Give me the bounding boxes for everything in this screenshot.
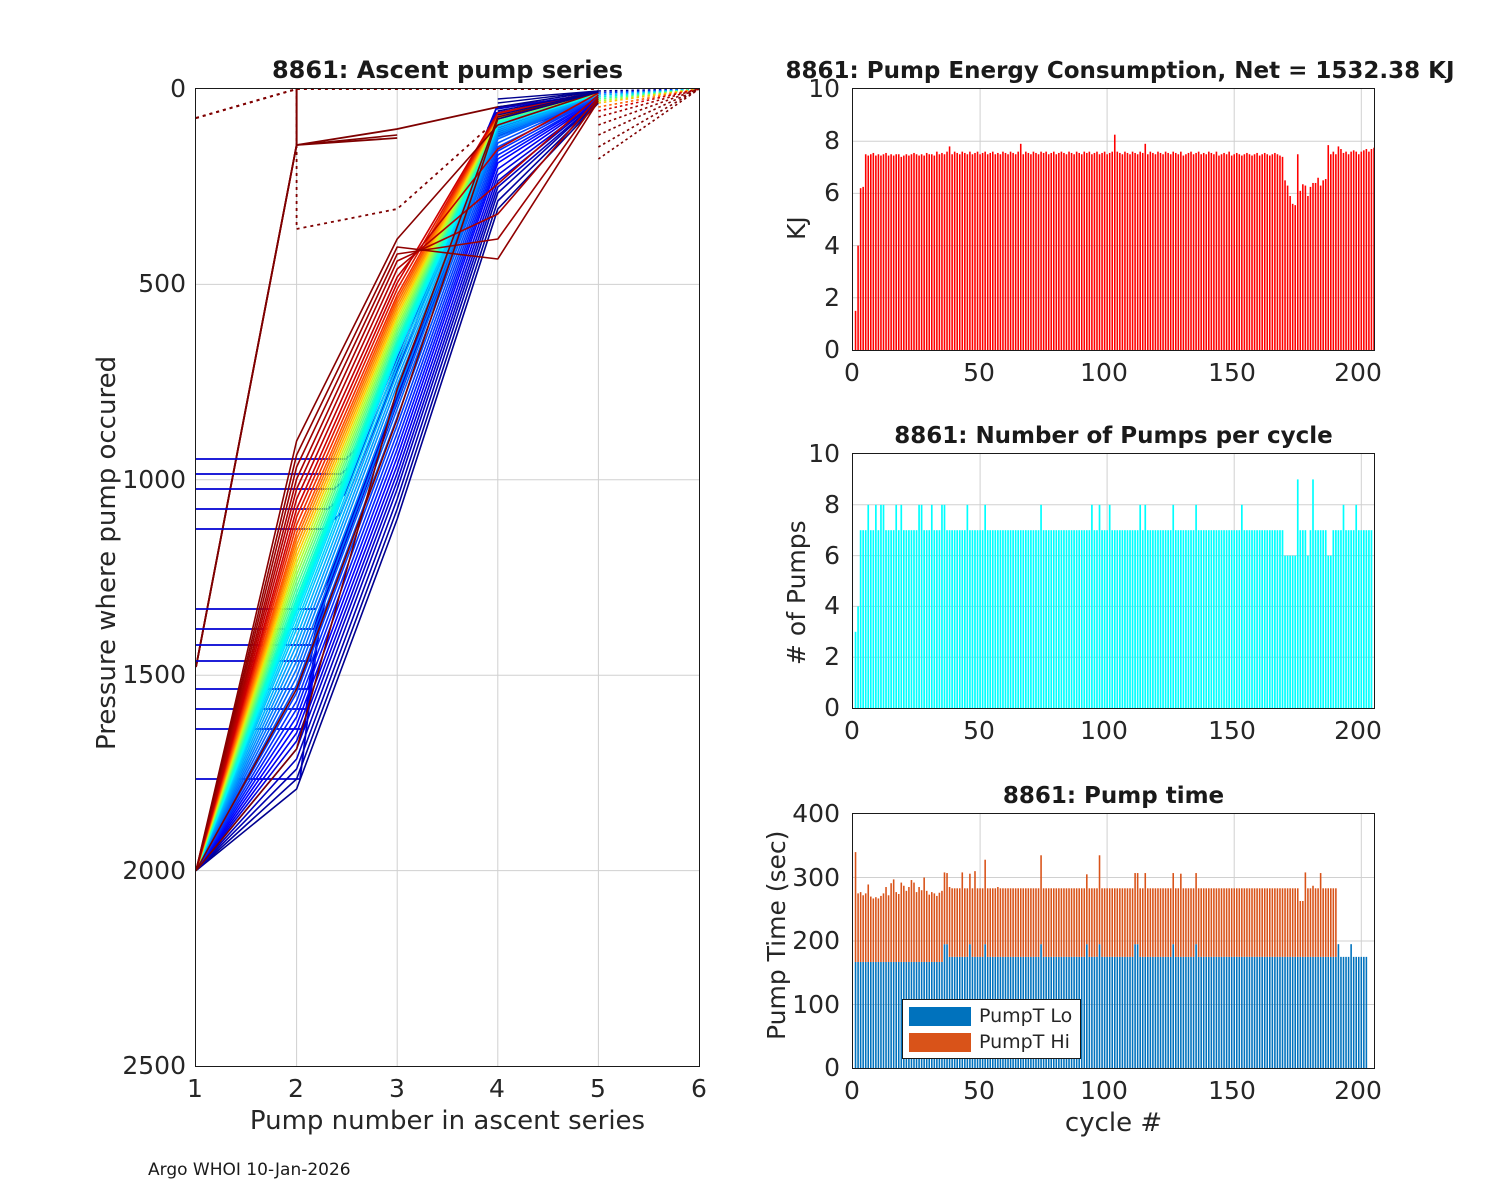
bar — [1015, 154, 1017, 350]
bar — [1175, 530, 1177, 708]
bar — [1030, 154, 1032, 350]
bar — [1239, 888, 1241, 957]
bar — [1028, 888, 1030, 957]
bar — [1180, 874, 1182, 957]
bar — [1305, 872, 1307, 956]
bar — [1355, 505, 1357, 708]
bar — [1101, 888, 1103, 957]
bar — [883, 962, 885, 1068]
bar — [967, 505, 969, 708]
bar — [1081, 888, 1083, 957]
bar — [1205, 957, 1207, 1068]
bar — [1218, 156, 1220, 350]
bar — [1236, 888, 1238, 957]
bar — [862, 962, 864, 1068]
bar — [1175, 153, 1177, 350]
bar — [1297, 888, 1299, 957]
bar — [1261, 957, 1263, 1068]
bar — [946, 530, 948, 708]
bar — [923, 878, 925, 962]
bar — [1233, 957, 1235, 1068]
bar — [1335, 154, 1337, 350]
bar — [1358, 957, 1360, 1068]
bar — [1124, 888, 1126, 957]
bar — [1055, 530, 1057, 708]
bar — [1188, 530, 1190, 708]
bar — [855, 311, 857, 350]
bar — [883, 154, 885, 350]
bar — [1050, 153, 1052, 350]
bar — [1322, 530, 1324, 708]
bar — [1259, 156, 1261, 350]
bar — [1269, 156, 1271, 350]
bar — [1083, 152, 1085, 350]
bar — [1050, 530, 1052, 708]
bar — [1340, 149, 1342, 350]
bar — [1294, 556, 1296, 708]
bar — [1167, 530, 1169, 708]
bar — [989, 888, 991, 957]
bar — [1091, 888, 1093, 957]
bar — [1236, 957, 1238, 1068]
bar — [1254, 957, 1256, 1068]
bar — [1223, 888, 1225, 957]
bar — [964, 530, 966, 708]
bar — [857, 893, 859, 962]
bar — [1144, 505, 1146, 708]
bar — [1147, 888, 1149, 957]
bar — [1089, 530, 1091, 708]
bar — [865, 154, 867, 350]
bar — [1287, 556, 1289, 708]
npumps-ytick-0: 0 — [788, 693, 840, 722]
bar — [1322, 180, 1324, 350]
bar — [1152, 530, 1154, 708]
bar — [860, 892, 862, 962]
bar — [1099, 944, 1101, 1068]
bar — [1233, 888, 1235, 957]
bar — [890, 883, 892, 962]
bar — [1109, 505, 1111, 708]
bar — [1239, 957, 1241, 1068]
bar — [1066, 154, 1068, 350]
bar — [1150, 530, 1152, 708]
bar — [1256, 530, 1258, 708]
bar — [1165, 152, 1167, 350]
bar — [1091, 505, 1093, 708]
bar — [1218, 530, 1220, 708]
bar — [1150, 152, 1152, 350]
energy-xtick-0: 0 — [837, 358, 867, 387]
bar — [916, 892, 918, 962]
bar — [1129, 530, 1131, 708]
bar — [1294, 205, 1296, 350]
bar — [992, 152, 994, 350]
bar — [1040, 152, 1042, 350]
bar — [1208, 530, 1210, 708]
bar — [911, 530, 913, 708]
bar — [933, 530, 935, 708]
bar — [959, 154, 961, 350]
bar — [1333, 152, 1335, 350]
ascent-ytick-0: 0 — [148, 74, 186, 103]
bar — [944, 505, 946, 708]
bar — [911, 154, 913, 350]
bar — [921, 154, 923, 350]
npumps-plot-svg — [853, 454, 1374, 708]
bar — [954, 152, 956, 350]
bar — [1254, 154, 1256, 350]
bar — [1282, 957, 1284, 1068]
bar — [916, 530, 918, 708]
bar — [1114, 135, 1116, 350]
bar — [1170, 888, 1172, 957]
bar — [1203, 530, 1205, 708]
bar — [1089, 957, 1091, 1068]
bar — [928, 154, 930, 350]
bar — [1315, 888, 1317, 957]
bar — [1002, 530, 1004, 708]
pumptime-xaxis-label: cycle # — [852, 1108, 1375, 1138]
bar — [883, 505, 885, 708]
bar — [1178, 957, 1180, 1068]
bar — [1213, 888, 1215, 957]
bar — [1371, 530, 1373, 708]
bar — [1345, 530, 1347, 708]
bar — [1063, 153, 1065, 350]
bar — [1279, 957, 1281, 1068]
bar — [1343, 505, 1345, 708]
bar — [1094, 957, 1096, 1068]
bar — [1147, 154, 1149, 350]
bar — [1322, 888, 1324, 957]
bar — [1155, 888, 1157, 957]
bar — [1340, 530, 1342, 708]
bar — [1000, 888, 1002, 957]
bar — [1119, 888, 1121, 957]
bar — [1294, 888, 1296, 957]
bar — [956, 153, 958, 350]
bar — [1335, 888, 1337, 957]
ascent-axes — [195, 88, 700, 1067]
bar — [1165, 888, 1167, 957]
bar — [1272, 957, 1274, 1068]
bar — [1231, 530, 1233, 708]
legend-swatch-pumpt-hi — [909, 1033, 971, 1052]
bar — [893, 530, 895, 708]
energy-yaxis-label: KJ — [782, 216, 811, 240]
bar — [878, 962, 880, 1068]
bar — [1205, 154, 1207, 350]
npumps-xtick-150: 150 — [1202, 716, 1262, 745]
bar — [1165, 957, 1167, 1068]
bar — [1152, 153, 1154, 350]
bar — [1198, 957, 1200, 1068]
bar — [880, 505, 882, 708]
bar — [1279, 156, 1281, 350]
bar — [860, 188, 862, 350]
bar — [1317, 957, 1319, 1068]
bar — [1000, 154, 1002, 350]
energy-ytick-6: 6 — [788, 178, 840, 207]
bar — [1061, 530, 1063, 708]
npumps-xtick-200: 200 — [1328, 716, 1388, 745]
bar — [1302, 901, 1304, 957]
bar — [1284, 180, 1286, 350]
bar — [1109, 888, 1111, 957]
bar — [1193, 154, 1195, 350]
bar — [895, 154, 897, 350]
bar — [1312, 886, 1314, 957]
bar — [1312, 957, 1314, 1068]
bar — [1132, 152, 1134, 350]
pumptime-xtick-150: 150 — [1202, 1076, 1262, 1105]
bar — [979, 530, 981, 708]
bar — [1266, 957, 1268, 1068]
bar — [895, 892, 897, 962]
bar — [1099, 505, 1101, 708]
bar — [1213, 957, 1215, 1068]
legend-item-pumpt-lo: PumpT Lo — [909, 1005, 1072, 1027]
bar — [1302, 530, 1304, 708]
bar — [880, 156, 882, 350]
bar — [1035, 888, 1037, 957]
bar — [1322, 957, 1324, 1068]
bar — [1025, 888, 1027, 957]
bar — [1264, 957, 1266, 1068]
bar — [1320, 530, 1322, 708]
bar — [898, 894, 900, 962]
bar — [939, 893, 941, 962]
bar — [1175, 888, 1177, 957]
bar — [1195, 153, 1197, 350]
bar — [867, 962, 869, 1068]
bar — [1109, 153, 1111, 350]
bar — [1106, 530, 1108, 708]
ascent-xtick-1: 1 — [180, 1074, 210, 1103]
bar — [1106, 957, 1108, 1068]
bar — [855, 962, 857, 1068]
bar — [1325, 530, 1327, 708]
bar — [1325, 888, 1327, 957]
bar — [1162, 154, 1164, 350]
bar — [1284, 957, 1286, 1068]
bar — [1363, 530, 1365, 708]
bar — [1216, 957, 1218, 1068]
bar — [1350, 944, 1352, 1068]
bar — [944, 154, 946, 350]
bar — [1066, 888, 1068, 957]
bar — [941, 505, 943, 708]
bar — [1297, 479, 1299, 708]
bar — [931, 892, 933, 962]
bar — [1053, 888, 1055, 957]
bar — [1259, 888, 1261, 957]
bar — [1246, 153, 1248, 350]
bar — [1300, 191, 1302, 350]
bar — [1190, 888, 1192, 957]
bar — [1043, 530, 1045, 708]
bar — [870, 530, 872, 708]
bar — [974, 530, 976, 708]
bar — [1104, 888, 1106, 957]
energy-bars — [855, 135, 1374, 350]
bar — [1241, 505, 1243, 708]
bar — [1355, 957, 1357, 1068]
bar — [1053, 152, 1055, 350]
bar — [1058, 530, 1060, 708]
bar — [893, 879, 895, 962]
bar — [1305, 530, 1307, 708]
energy-xtick-100: 100 — [1074, 358, 1134, 387]
bar — [1216, 530, 1218, 708]
bar — [1330, 154, 1332, 350]
bar — [1157, 152, 1159, 350]
bar — [1162, 957, 1164, 1068]
bar — [875, 156, 877, 350]
bar — [908, 887, 910, 962]
bar — [1124, 152, 1126, 350]
bar — [1078, 530, 1080, 708]
bar — [890, 962, 892, 1068]
bar — [1063, 530, 1065, 708]
bar — [1089, 888, 1091, 957]
ascent-xaxis-label: Pump number in ascent series — [195, 1106, 700, 1136]
bar — [1028, 530, 1030, 708]
footer-credit: Argo WHOI 10-Jan-2026 — [148, 1160, 351, 1180]
bar — [1132, 888, 1134, 957]
bar — [1076, 152, 1078, 350]
bar — [1155, 154, 1157, 350]
bar — [1094, 153, 1096, 350]
bar — [1198, 152, 1200, 350]
bar — [1139, 152, 1141, 350]
bar — [989, 530, 991, 708]
bar — [1294, 957, 1296, 1068]
bar — [1289, 888, 1291, 957]
bar — [885, 962, 887, 1068]
bar — [1073, 530, 1075, 708]
bar — [1350, 152, 1352, 350]
bar — [865, 530, 867, 708]
bar — [1315, 530, 1317, 708]
bar — [888, 156, 890, 350]
bar — [1205, 888, 1207, 957]
bar — [1129, 154, 1131, 350]
bar — [1045, 888, 1047, 957]
bar — [1150, 888, 1152, 957]
bar — [885, 530, 887, 708]
pumptime-xtick-50: 50 — [954, 1076, 1004, 1105]
bar — [1338, 944, 1340, 1068]
bar — [1122, 888, 1124, 957]
bar — [987, 154, 989, 350]
bar — [1226, 957, 1228, 1068]
bar — [890, 530, 892, 708]
bar — [895, 505, 897, 708]
bar — [1310, 530, 1312, 708]
bar — [913, 883, 915, 962]
bar — [1228, 152, 1230, 350]
bar — [1048, 154, 1050, 350]
energy-ytick-8: 8 — [788, 126, 840, 155]
bar — [1289, 196, 1291, 350]
bar — [964, 153, 966, 350]
bar — [1373, 148, 1374, 350]
bar — [1264, 888, 1266, 957]
bar — [995, 888, 997, 957]
bar — [1086, 530, 1088, 708]
bar — [1366, 957, 1368, 1068]
bar — [1150, 957, 1152, 1068]
bar — [1137, 530, 1139, 708]
bar — [967, 154, 969, 350]
npumps-axes — [852, 453, 1375, 709]
bar — [1180, 530, 1182, 708]
bar — [1155, 957, 1157, 1068]
bar — [1256, 153, 1258, 350]
bar — [972, 530, 974, 708]
bar — [1073, 154, 1075, 350]
bar — [1228, 888, 1230, 957]
bar — [1002, 152, 1004, 350]
pumptime-legend: PumpT Lo PumpT Hi — [902, 999, 1081, 1059]
bar — [1061, 888, 1063, 957]
bar — [1040, 505, 1042, 708]
npumps-yaxis-label: # of Pumps — [782, 520, 811, 665]
bar — [860, 962, 862, 1068]
bar — [1180, 957, 1182, 1068]
bar — [1292, 888, 1294, 957]
bar — [1099, 154, 1101, 350]
bar — [1050, 888, 1052, 957]
bar — [1005, 888, 1007, 957]
bar — [936, 530, 938, 708]
bar — [1040, 855, 1042, 944]
bar — [1348, 957, 1350, 1068]
bar — [1030, 888, 1032, 957]
energy-plot-svg — [853, 89, 1374, 350]
bar — [1137, 944, 1139, 1068]
bar — [961, 530, 963, 708]
bar — [1208, 957, 1210, 1068]
bar — [1096, 957, 1098, 1068]
bar — [1155, 530, 1157, 708]
bar — [1162, 888, 1164, 957]
bar — [1089, 152, 1091, 350]
bar — [1068, 152, 1070, 350]
bar — [1307, 196, 1309, 350]
bar — [1157, 888, 1159, 957]
bar — [1114, 530, 1116, 708]
bar — [880, 962, 882, 1068]
bar — [1284, 556, 1286, 708]
bar — [934, 156, 936, 350]
bar — [1358, 530, 1360, 708]
npumps-bars — [855, 479, 1373, 708]
bar — [1076, 888, 1078, 957]
bar — [1310, 888, 1312, 957]
bar — [1310, 957, 1312, 1068]
bar — [1127, 530, 1129, 708]
bar — [913, 153, 915, 350]
legend-item-pumpt-hi: PumpT Hi — [909, 1031, 1072, 1053]
bar — [1330, 888, 1332, 957]
bar — [1071, 153, 1073, 350]
bar — [1205, 530, 1207, 708]
bar — [1251, 957, 1253, 1068]
bar — [1200, 957, 1202, 1068]
